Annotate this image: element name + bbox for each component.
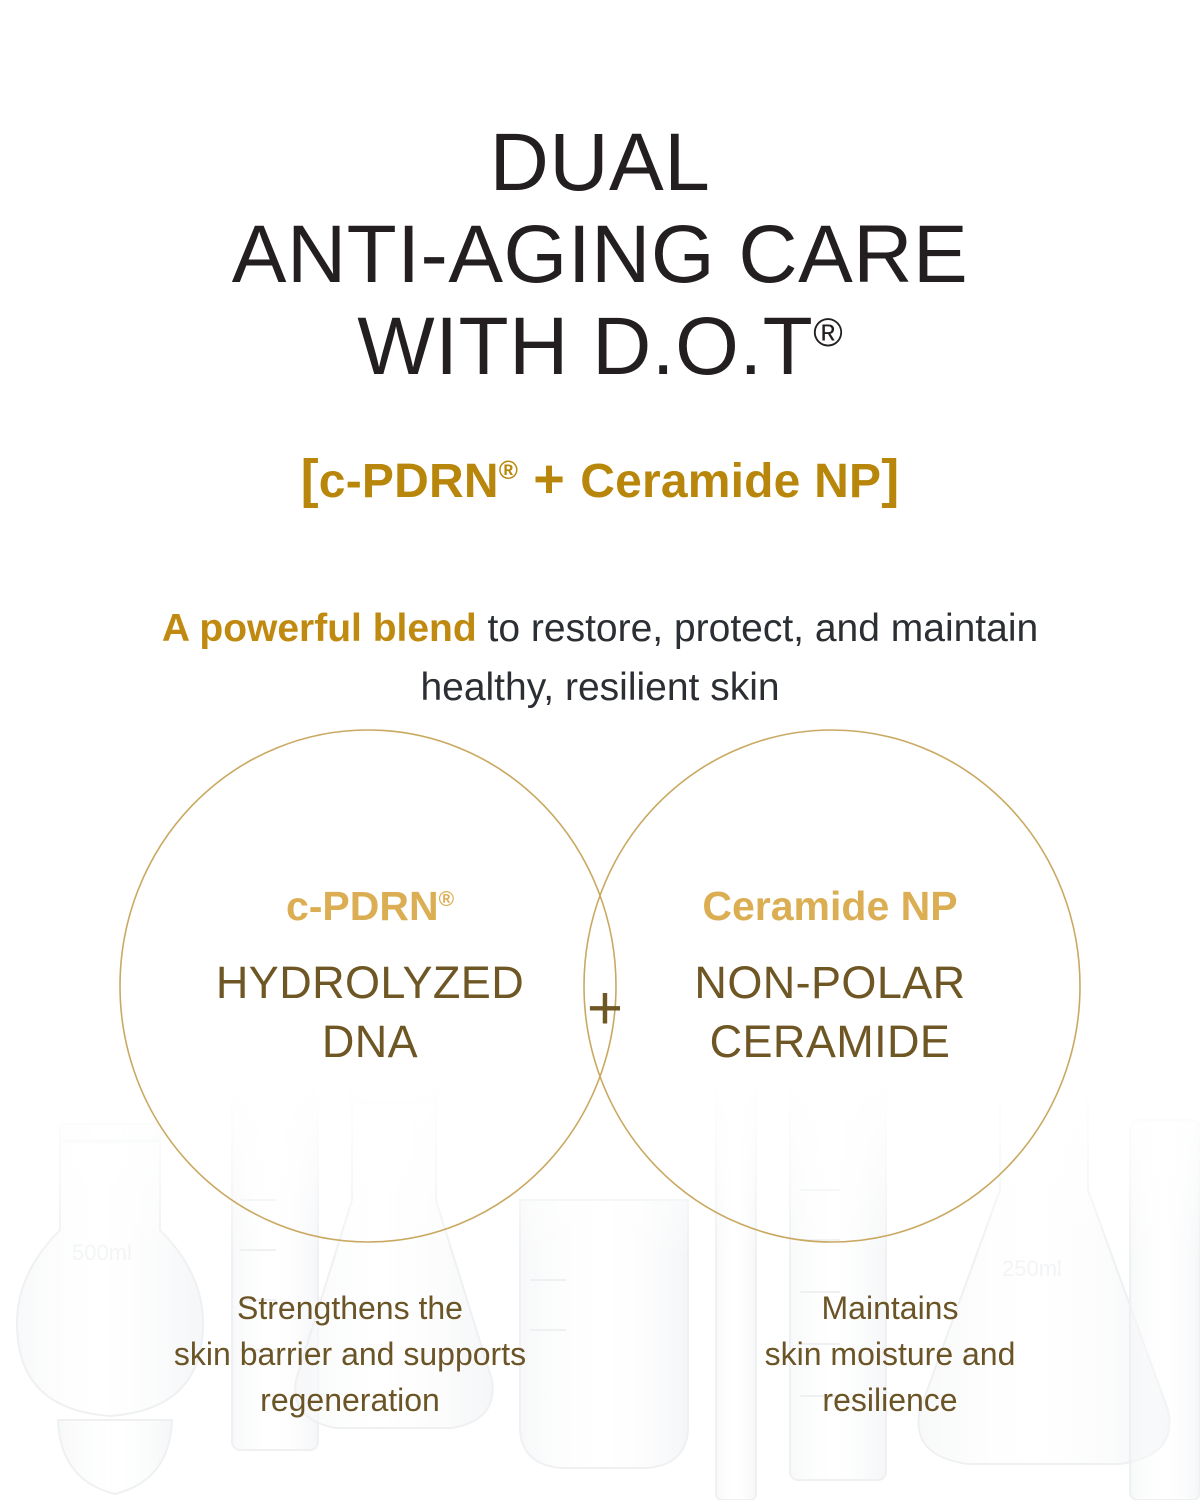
- headline-line-3-text: WITH D.O.T: [357, 301, 813, 392]
- venn-left-title-text: c-PDRN: [286, 883, 439, 929]
- benefit-caption-right: Maintains skin moisture and resilience: [660, 1285, 1120, 1423]
- ingredient-one-registered-icon: ®: [499, 455, 518, 485]
- venn-left-subtitle: HYDROLYZED DNA: [120, 953, 620, 1072]
- venn-left-content: c-PDRN® HYDROLYZED DNA: [120, 886, 620, 1072]
- venn-right-content: Ceramide NP NON-POLAR CERAMIDE: [580, 886, 1080, 1072]
- benefit-caption-left: Strengthens the skin barrier and support…: [40, 1285, 660, 1423]
- blend-rest-line-1: to restore, protect, and: [477, 607, 880, 650]
- ingredient-two-label: Ceramide NP: [580, 455, 881, 508]
- benefit-captions: Strengthens the skin barrier and support…: [0, 1285, 1200, 1423]
- benefit-right-line-3: resilience: [660, 1377, 1120, 1423]
- blend-emphasis: A powerful blend: [162, 607, 477, 650]
- headline-line-2: ANTI-AGING CARE: [0, 209, 1200, 301]
- headline-line-1: DUAL: [0, 117, 1200, 209]
- venn-left-subtitle-line-2: DNA: [120, 1012, 620, 1071]
- product-infographic: 500ml 250ml DUAL ANTI-AGING CARE WITH D.…: [0, 0, 1200, 1500]
- bracket-close: ]: [881, 449, 899, 509]
- benefit-left-line-1: Strengthens the: [40, 1285, 660, 1331]
- venn-left-registered-icon: ®: [439, 888, 454, 911]
- ingredient-one-label: c-PDRN: [319, 455, 499, 508]
- venn-left-subtitle-line-1: HYDROLYZED: [120, 953, 620, 1012]
- venn-diagram: c-PDRN® HYDROLYZED DNA + Ceramide NP NON…: [110, 726, 1090, 1246]
- headline-line-3: WITH D.O.T®: [0, 301, 1200, 393]
- benefit-right-line-2: skin moisture and: [660, 1331, 1120, 1377]
- venn-right-subtitle: NON-POLAR CERAMIDE: [580, 953, 1080, 1072]
- ingredients-separator: +: [518, 449, 580, 509]
- svg-text:250ml: 250ml: [1002, 1256, 1062, 1281]
- benefit-left-line-2: skin barrier and supports: [40, 1331, 660, 1377]
- venn-right-subtitle-line-2: CERAMIDE: [580, 1012, 1080, 1071]
- benefit-left-line-3: regeneration: [40, 1377, 660, 1423]
- ingredients-subtitle: [c-PDRN® + Ceramide NP]: [0, 448, 1200, 510]
- venn-left-title: c-PDRN®: [120, 886, 620, 927]
- page-title: DUAL ANTI-AGING CARE WITH D.O.T®: [0, 117, 1200, 392]
- venn-right-subtitle-line-1: NON-POLAR: [580, 953, 1080, 1012]
- bracket-open: [: [301, 449, 319, 509]
- blend-statement: A powerful blend to restore, protect, an…: [100, 599, 1100, 718]
- benefit-right-line-1: Maintains: [660, 1285, 1120, 1331]
- registered-trademark-icon: ®: [813, 311, 842, 355]
- venn-right-title: Ceramide NP: [580, 886, 1080, 927]
